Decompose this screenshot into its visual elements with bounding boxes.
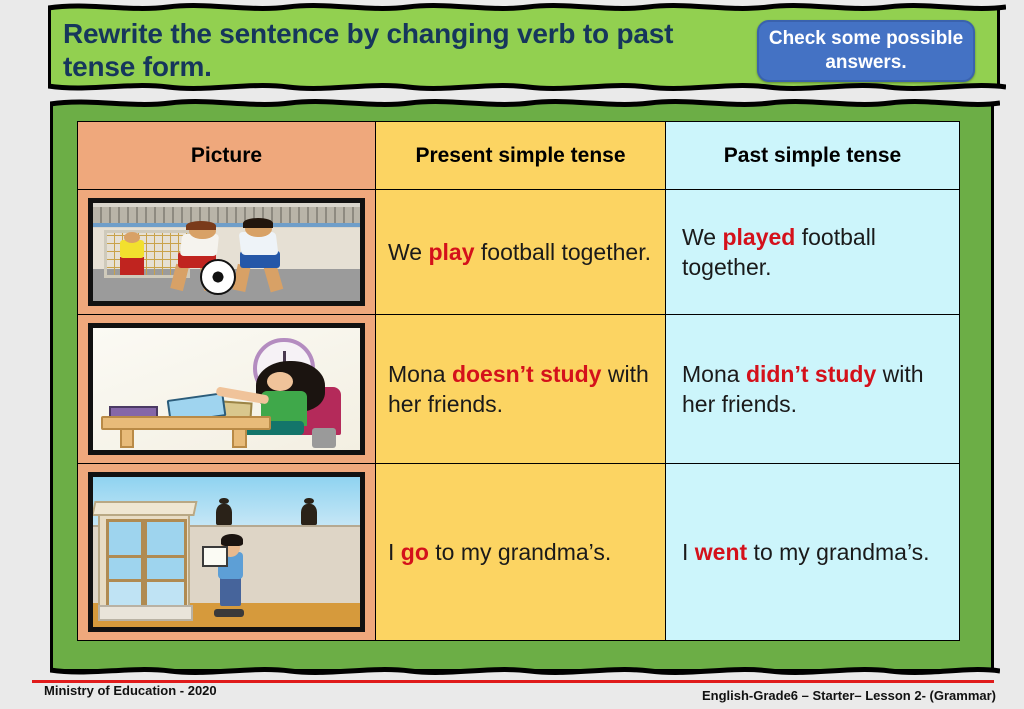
present-cell-1: We play football together. (376, 190, 666, 315)
studying-illustration (88, 323, 365, 455)
header-label-past: Past simple tense (666, 144, 959, 168)
present-sentence-3: I go to my grandma’s. (388, 537, 665, 567)
footer-lesson: English-Grade6 – Starter– Lesson 2- (Gra… (702, 688, 996, 703)
footer-ministry: Ministry of Education - 2020 (44, 683, 217, 698)
past-cell-1: We played football together. (666, 190, 960, 315)
past-sentence-1: We played football together. (682, 222, 959, 283)
header-label-present: Present simple tense (376, 144, 665, 168)
table-header-row: Picture Present simple tense Past simple… (78, 122, 960, 190)
picture-cell-3 (78, 464, 376, 641)
past-sentence-3: I went to my grandma’s. (682, 537, 959, 567)
past-cell-2: Mona didn’t study with her friends. (666, 315, 960, 464)
banner-bottom-wave (48, 81, 1006, 93)
table-row: Mona doesn’t study with her friends. Mon… (78, 315, 960, 464)
panel-bottom-wave (50, 664, 1000, 676)
panel-top-wave (50, 96, 1000, 108)
present-cell-3: I go to my grandma’s. (376, 464, 666, 641)
check-answers-button[interactable]: Check some possible answers. (757, 20, 975, 82)
column-header-present: Present simple tense (376, 122, 666, 190)
past-cell-3: I went to my grandma’s. (666, 464, 960, 641)
header-label-picture: Picture (78, 144, 375, 168)
tense-table: Picture Present simple tense Past simple… (77, 121, 960, 641)
present-cell-2: Mona doesn’t study with her friends. (376, 315, 666, 464)
past-sentence-2: Mona didn’t study with her friends. (682, 359, 959, 420)
content-panel: Picture Present simple tense Past simple… (50, 100, 994, 672)
page-title: Rewrite the sentence by changing verb to… (63, 17, 723, 83)
football-illustration (88, 198, 365, 306)
present-sentence-1: We play football together. (388, 237, 665, 267)
column-header-past: Past simple tense (666, 122, 960, 190)
present-sentence-2: Mona doesn’t study with her friends. (388, 359, 665, 420)
banner-top-wave (48, 1, 1006, 13)
picture-cell-1 (78, 190, 376, 315)
column-header-picture: Picture (78, 122, 376, 190)
table-row: We play football together. We played foo… (78, 190, 960, 315)
slide-canvas: Rewrite the sentence by changing verb to… (0, 0, 1024, 709)
house-illustration (88, 472, 365, 632)
picture-cell-2 (78, 315, 376, 464)
title-banner: Rewrite the sentence by changing verb to… (48, 4, 1000, 90)
table-row: I go to my grandma’s. I went to my grand… (78, 464, 960, 641)
